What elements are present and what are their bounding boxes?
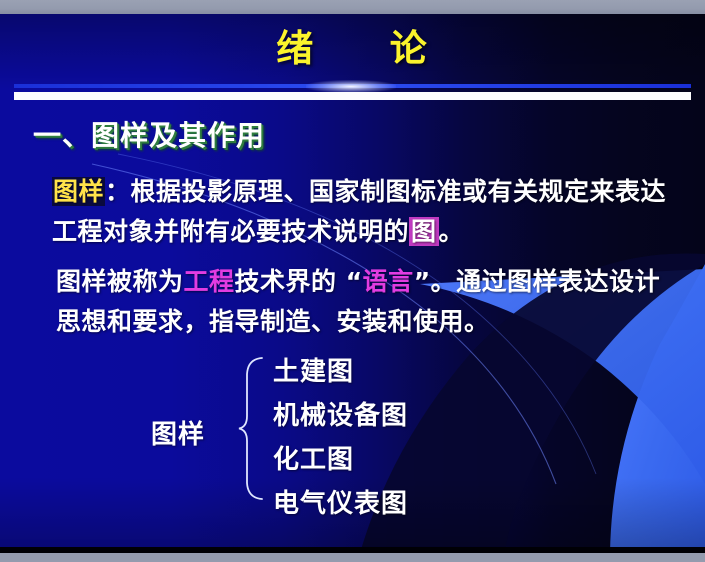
diagram-type-list: 土建图 机械设备图 化工图 电气仪表图 (273, 350, 573, 526)
section-heading: 一、图样及其作用 (33, 114, 265, 154)
list-item: 机械设备图 (273, 394, 573, 438)
slide-canvas: 绪 论 一、图样及其作用 图样：根据投影原理、国家制图标准或有关规定来表达工程对… (0, 14, 705, 553)
paragraph-2-text-a: 图样被称为 (56, 267, 184, 296)
paragraph-1-text-b: 。 (439, 217, 465, 246)
window-bottom-bar (0, 553, 705, 562)
list-item: 土建图 (273, 350, 573, 394)
body-paragraph-1: 图样：根据投影原理、国家制图标准或有关规定来表达工程对象并附有必要技术说明的图。 (52, 172, 682, 252)
title-divider (14, 84, 691, 104)
page-title: 绪 论 (0, 26, 705, 72)
emphasis-yuyan: 语言 (363, 267, 414, 296)
list-item: 化工图 (273, 438, 573, 482)
body-paragraph-2: 图样被称为工程技术界的 “语言”。通过图样表达设计思想和要求，指导制造、安装和使… (56, 262, 676, 342)
paragraph-1-colon: ： (105, 177, 131, 206)
window-top-bar (0, 0, 705, 14)
term-highlight-tuyang: 图样 (52, 177, 105, 206)
left-curly-brace-icon (236, 356, 266, 501)
paragraph-1-text-a: 根据投影原理、国家制图标准或有关规定来表达工程对象并附有必要技术说明的 (52, 177, 666, 246)
presentation-slide-window: 绪 论 一、图样及其作用 图样：根据投影原理、国家制图标准或有关规定来表达工程对… (0, 0, 705, 562)
emphasis-gongcheng: 工程 (184, 267, 235, 296)
list-item: 电气仪表图 (273, 482, 573, 526)
divider-white-line (14, 92, 691, 100)
group-label-tuyang: 图样 (151, 414, 205, 451)
paragraph-2-text-b: 技术界的 “ (235, 267, 363, 296)
highlight-word-tu: 图 (409, 217, 439, 246)
